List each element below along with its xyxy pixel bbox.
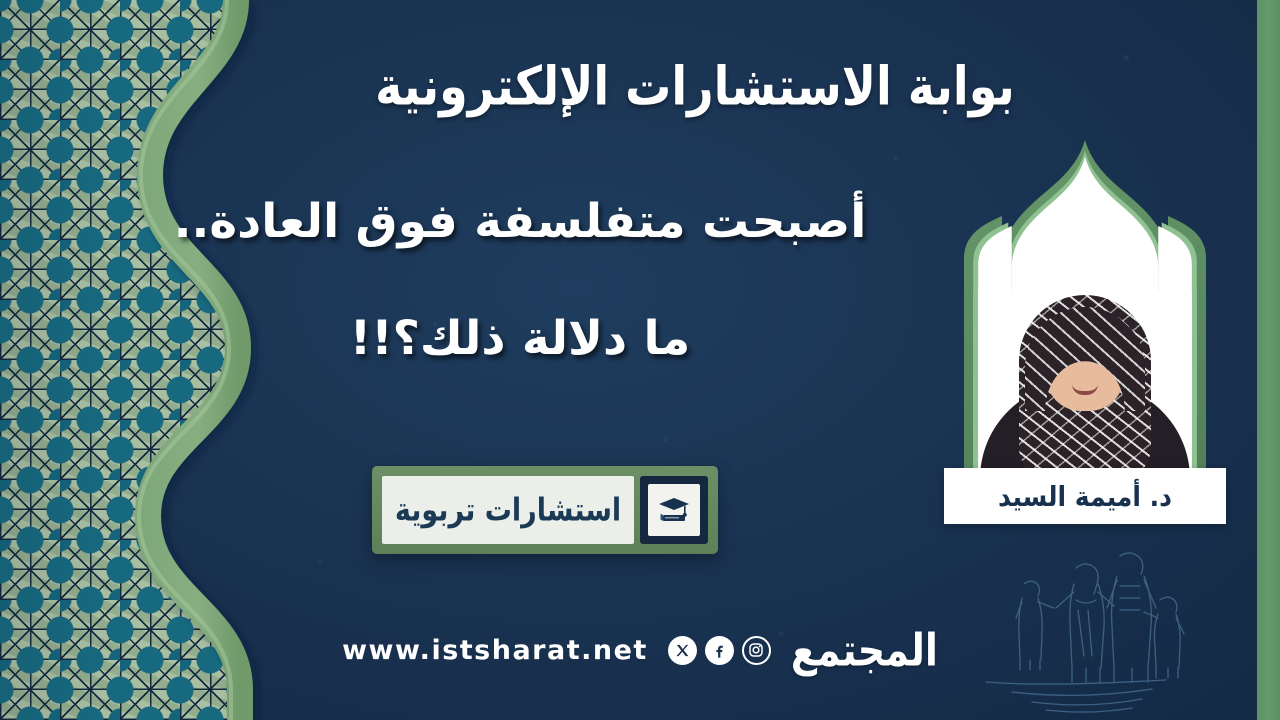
social-card-canvas: بوابة الاستشارات الإلكترونية أصبحت متفلس… <box>0 0 1280 720</box>
brand-logo-text: المجتمع <box>791 624 938 676</box>
social-links <box>668 636 771 665</box>
presenter-portrait-frame: د. أميمة السيد <box>940 138 1230 520</box>
badge-icon-frame <box>640 476 708 544</box>
right-edge-strip <box>1257 0 1280 720</box>
headline-line-2: ما دلالة ذلك؟!! <box>150 313 890 366</box>
instagram-icon[interactable] <box>742 636 771 665</box>
graduation-cap-book-icon <box>648 484 700 536</box>
presenter-name: د. أميمة السيد <box>998 480 1172 512</box>
website-url[interactable]: www.istsharat.net <box>342 635 648 666</box>
portal-title: بوابة الاستشارات الإلكترونية <box>375 55 1015 118</box>
headline-block: أصبحت متفلسفة فوق العادة.. ما دلالة ذلك؟… <box>150 196 890 365</box>
portrait-photo <box>957 155 1213 503</box>
footer-bar: المجتمع www.istsharat.net <box>0 622 1280 678</box>
header-calligraphy: بوابة الاستشارات الإلكترونية <box>395 26 995 146</box>
presenter-avatar <box>957 155 1213 503</box>
category-badge[interactable]: استشارات تربوية <box>372 466 718 554</box>
facebook-icon[interactable] <box>705 636 734 665</box>
x-twitter-icon[interactable] <box>668 636 697 665</box>
badge-label-plate: استشارات تربوية <box>382 476 634 544</box>
headline-line-1: أصبحت متفلسفة فوق العادة.. <box>150 196 890 249</box>
presenter-nameplate: د. أميمة السيد <box>944 468 1226 524</box>
badge-label: استشارات تربوية <box>395 492 621 529</box>
